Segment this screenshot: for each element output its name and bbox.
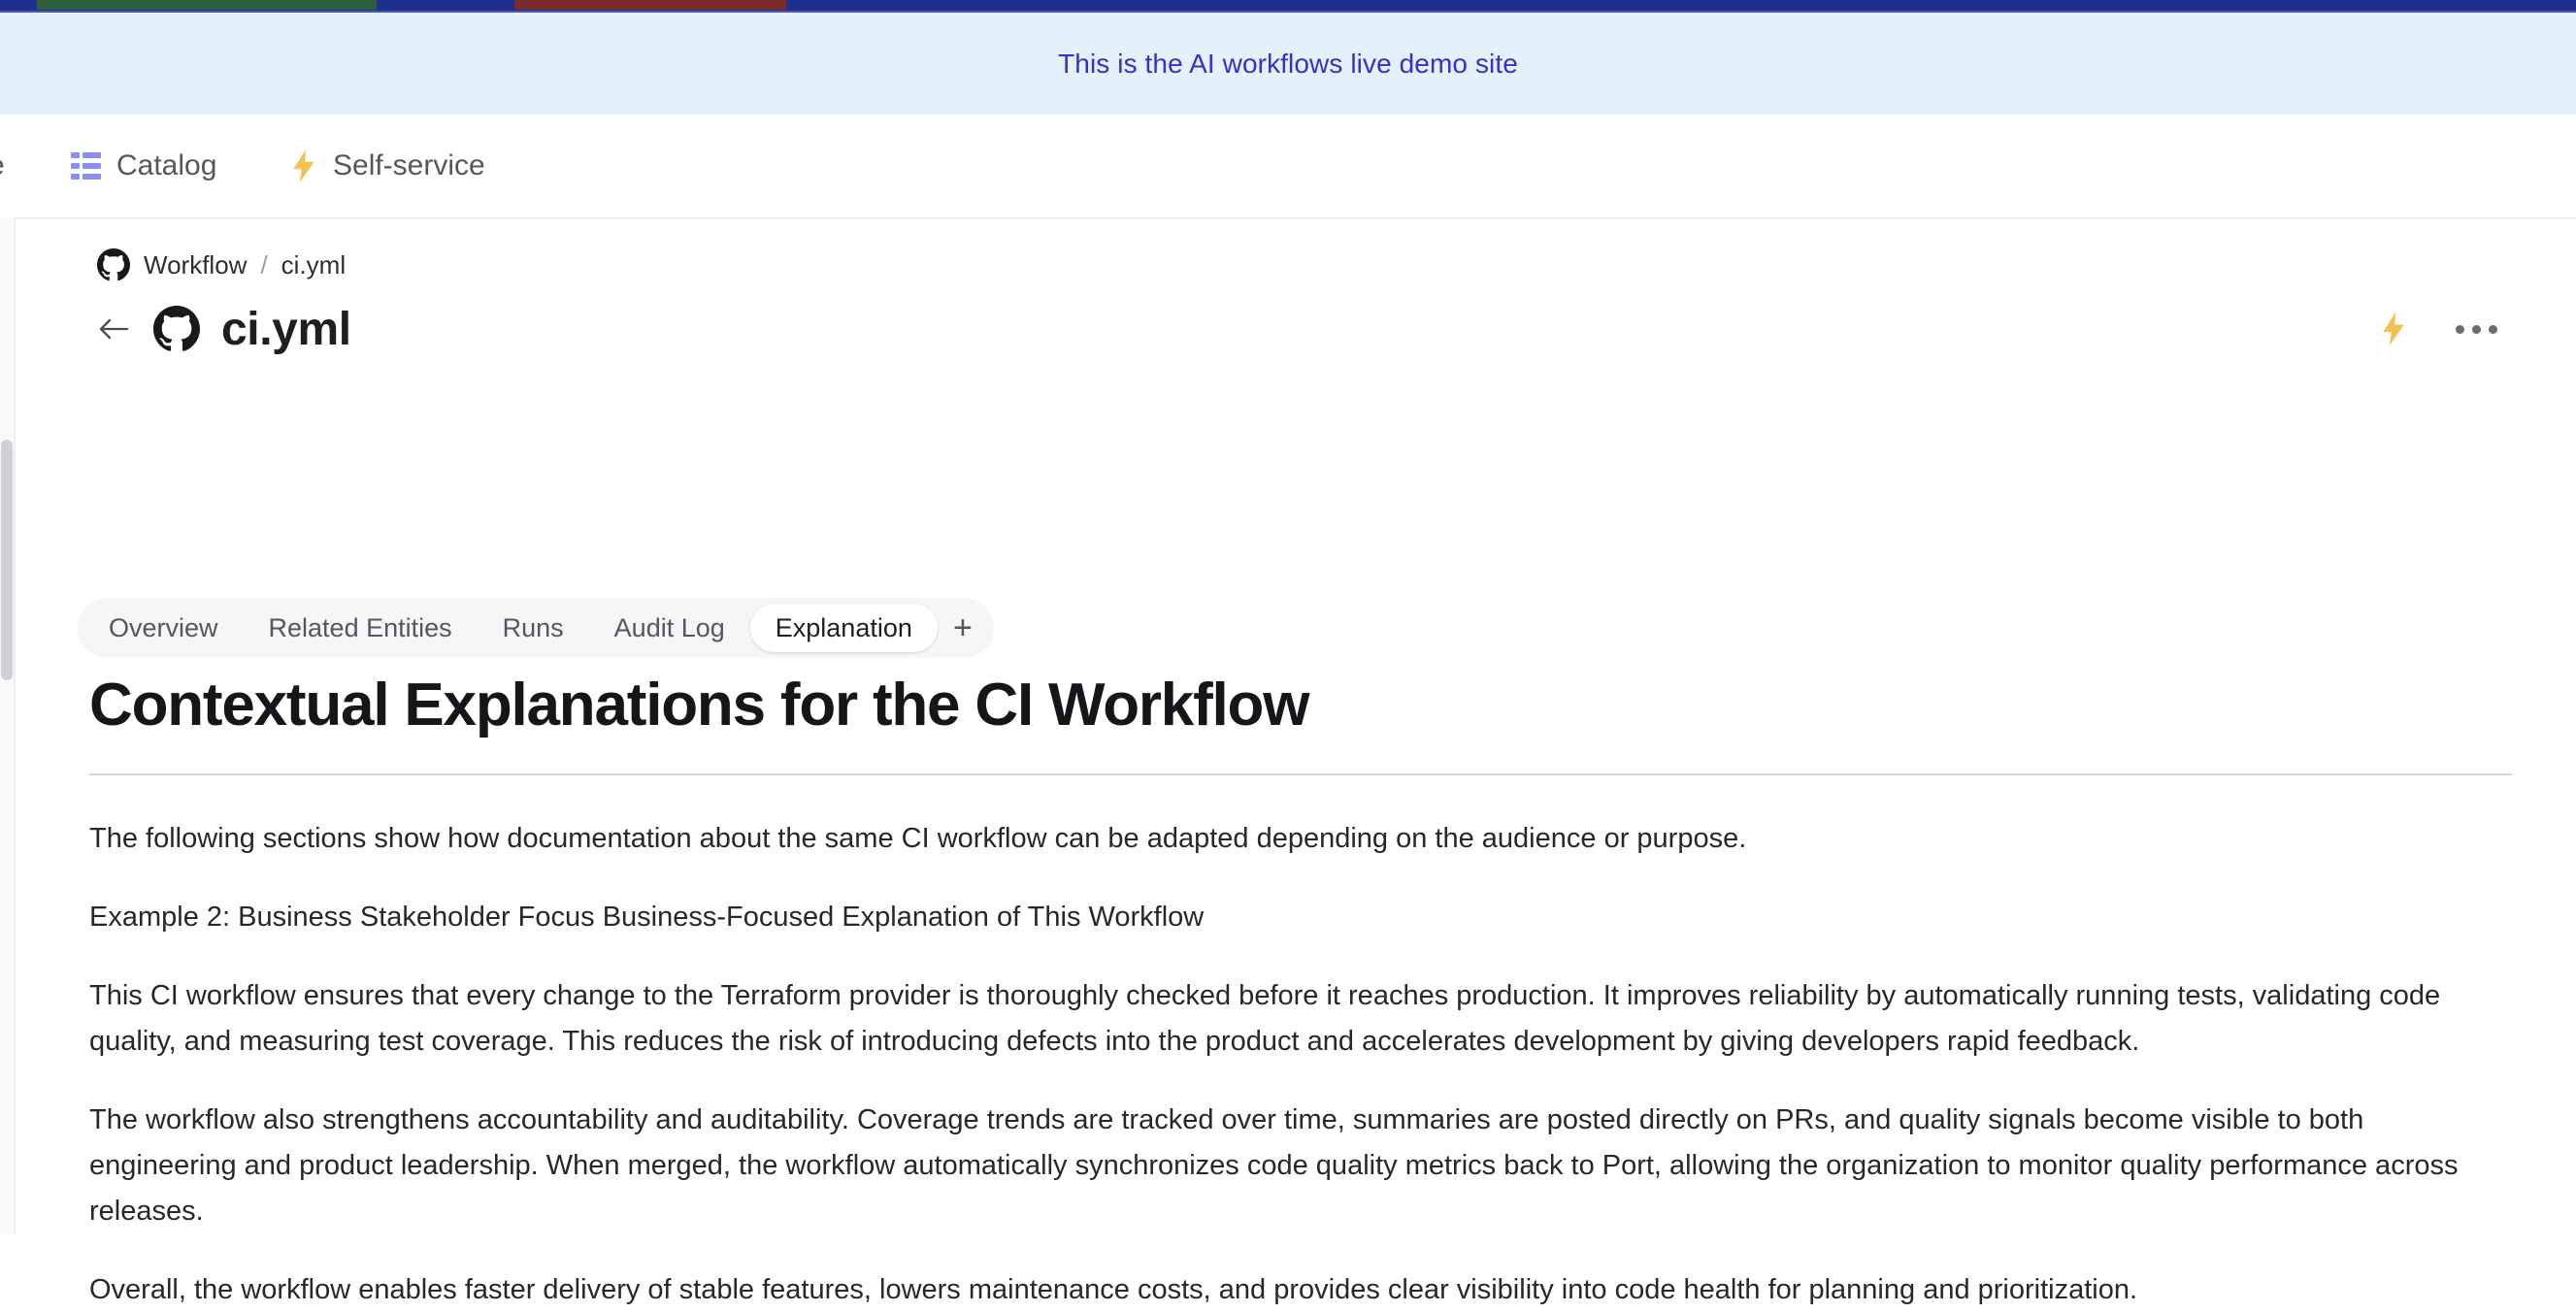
tab-overview-label: Overview bbox=[109, 613, 218, 643]
entity-header: ci.yml bbox=[0, 291, 2576, 367]
breadcrumb-separator: / bbox=[260, 250, 267, 280]
demo-site-banner: This is the AI workflows live demo site bbox=[0, 13, 2576, 115]
more-horizontal-icon[interactable] bbox=[2456, 325, 2497, 334]
breadcrumb-item-ciyml[interactable]: ci.yml bbox=[281, 250, 346, 280]
entity-tabs: Overview Related Entities Runs Audit Log… bbox=[78, 598, 994, 658]
browser-tab-red[interactable] bbox=[514, 0, 786, 10]
left-rail bbox=[0, 217, 14, 1234]
tab-explanation[interactable]: Explanation bbox=[750, 604, 938, 652]
content-paragraph-example-label: Example 2: Business Stakeholder Focus Bu… bbox=[89, 895, 2477, 940]
tab-runs-label: Runs bbox=[503, 613, 564, 643]
tab-audit-log-label: Audit Log bbox=[614, 613, 725, 643]
tab-overview[interactable]: Overview bbox=[83, 604, 244, 652]
content-paragraph-body-2: The workflow also strengthens accountabi… bbox=[89, 1098, 2477, 1234]
top-navigation-bar: e Catalog Self-service Search ⌘ K Builde… bbox=[0, 115, 2576, 217]
back-button[interactable] bbox=[93, 309, 134, 349]
vertical-scrollbar-thumb[interactable] bbox=[1, 440, 13, 680]
github-icon bbox=[153, 306, 200, 352]
content-paragraph-body-1: This CI workflow ensures that every chan… bbox=[89, 973, 2477, 1065]
lightning-bolt-icon[interactable] bbox=[2381, 312, 2406, 346]
nav-item-catalog[interactable]: Catalog bbox=[71, 149, 216, 182]
demo-banner-text: This is the AI workflows live demo site bbox=[1058, 49, 1518, 80]
body-top-divider bbox=[0, 217, 2576, 219]
tab-explanation-label: Explanation bbox=[776, 613, 912, 643]
tab-related-entities[interactable]: Related Entities bbox=[244, 604, 478, 652]
add-tab-button[interactable]: + bbox=[938, 604, 988, 652]
browser-tab-strip bbox=[0, 0, 2576, 13]
nav-item-self-service-label: Self-service bbox=[333, 149, 485, 182]
content-paragraph-intro: The following sections show how document… bbox=[89, 816, 2477, 862]
tab-related-entities-label: Related Entities bbox=[269, 613, 452, 643]
tab-runs[interactable]: Runs bbox=[478, 604, 589, 652]
nav-item-clipped[interactable]: e bbox=[0, 149, 5, 182]
content-heading: Contextual Explanations for the CI Workf… bbox=[89, 672, 2512, 739]
content-divider bbox=[89, 773, 2512, 775]
nav-item-catalog-label: Catalog bbox=[116, 149, 216, 182]
arrow-left-icon bbox=[98, 316, 129, 342]
page-title: ci.yml bbox=[221, 303, 351, 356]
breadcrumb: Workflow / ci.yml bbox=[97, 248, 346, 281]
browser-tab-green[interactable] bbox=[37, 0, 377, 10]
content-paragraph-summary: Overall, the workflow enables faster del… bbox=[89, 1267, 2477, 1313]
breadcrumb-item-workflow[interactable]: Workflow bbox=[144, 250, 247, 280]
lightning-bolt-icon bbox=[291, 149, 316, 182]
tab-audit-log[interactable]: Audit Log bbox=[589, 604, 750, 652]
left-rail-divider bbox=[14, 217, 16, 1234]
nav-item-self-service[interactable]: Self-service bbox=[291, 149, 485, 182]
explanation-content: Contextual Explanations for the CI Workf… bbox=[89, 672, 2512, 1313]
catalog-grid-icon bbox=[71, 152, 100, 180]
page-body: Workflow / ci.yml ci.yml Overview Relate… bbox=[0, 217, 2576, 1234]
github-icon bbox=[97, 248, 130, 281]
